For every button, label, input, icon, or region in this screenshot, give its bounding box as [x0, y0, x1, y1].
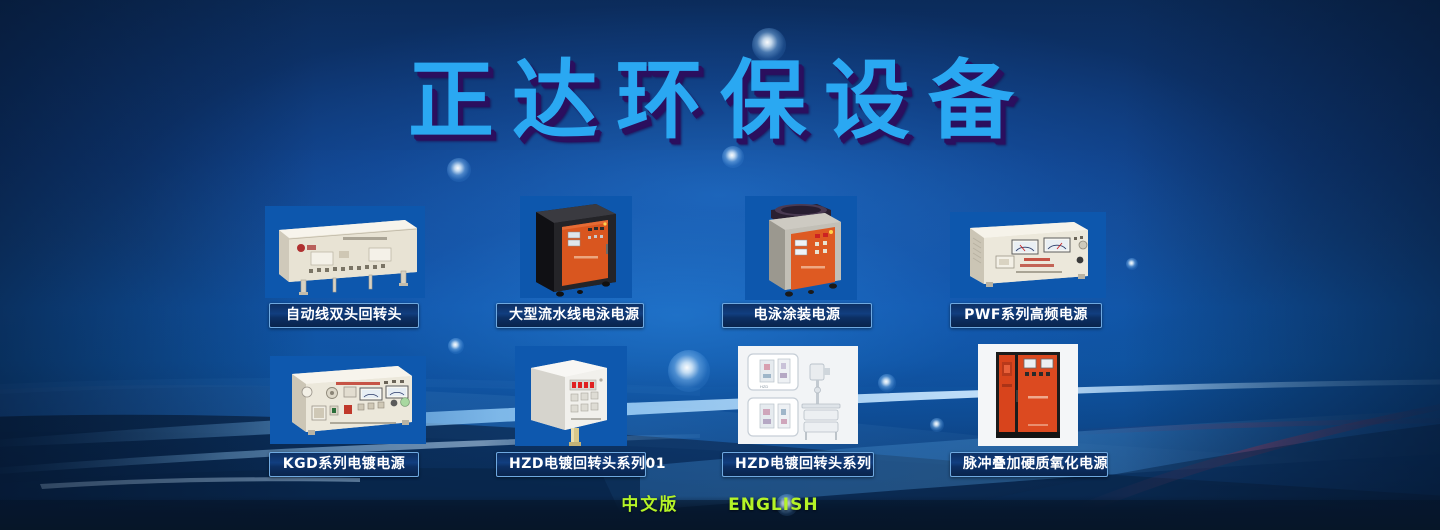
product-label-1[interactable]: 自动线双头回转头: [269, 303, 419, 328]
product-label-7[interactable]: HZD电镀回转头系列: [722, 452, 874, 477]
splash-page: 正达环保设备: [0, 0, 1440, 530]
product-label-5[interactable]: KGD系列电镀电源: [269, 452, 419, 477]
language-link-english[interactable]: ENGLISH: [728, 495, 818, 515]
product-image-3[interactable]: [745, 196, 857, 300]
product-label-4[interactable]: PWF系列高频电源: [950, 303, 1102, 328]
product-label-6[interactable]: HZD电镀回转头系列01: [496, 452, 646, 477]
product-label-2[interactable]: 大型流水线电泳电源: [496, 303, 644, 328]
svg-text:HZD: HZD: [760, 384, 768, 389]
product-image-1[interactable]: [265, 206, 425, 298]
language-link-chinese[interactable]: 中文版: [621, 495, 678, 515]
product-image-2[interactable]: [520, 196, 632, 298]
product-image-8[interactable]: [978, 344, 1078, 446]
product-image-7[interactable]: HZD: [738, 346, 858, 444]
product-image-5[interactable]: [270, 356, 426, 444]
product-image-4[interactable]: [950, 212, 1106, 298]
language-links: 中文版 ENGLISH: [0, 490, 1440, 515]
product-label-3[interactable]: 电泳涂装电源: [722, 303, 872, 328]
page-title: 正达环保设备: [0, 58, 1440, 144]
product-image-6[interactable]: [515, 346, 627, 446]
product-label-8[interactable]: 脉冲叠加硬质氧化电源: [950, 452, 1108, 477]
